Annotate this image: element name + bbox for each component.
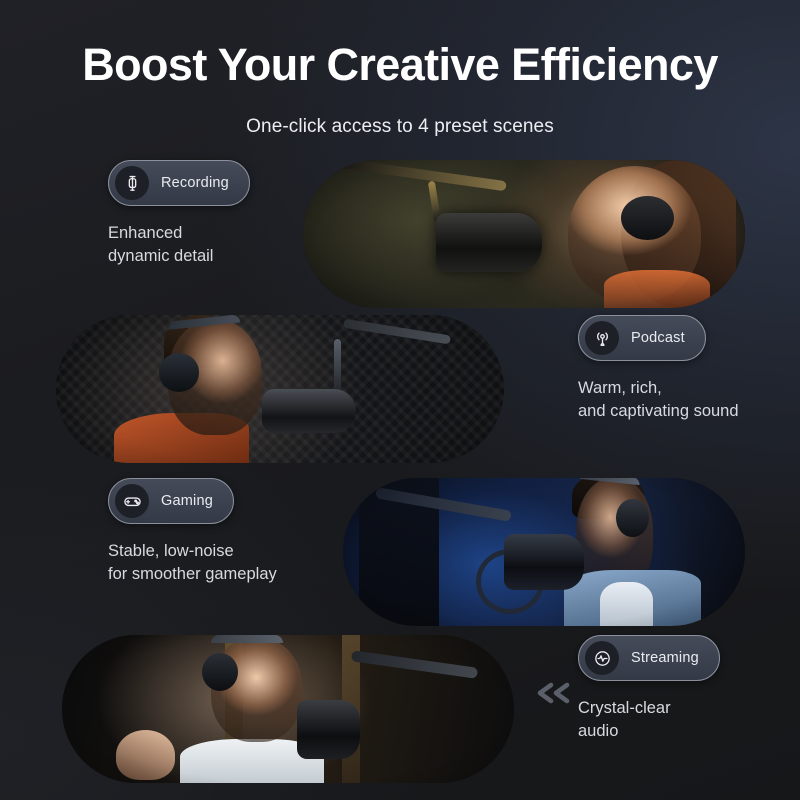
page-subtitle: One-click access to 4 preset scenes (0, 116, 800, 138)
gamepad-icon (115, 484, 149, 518)
scene-caption: Crystal-clear audio (578, 697, 720, 744)
microphone-icon (115, 166, 149, 200)
scene-info-streaming: Streaming Crystal-clear audio (578, 635, 720, 744)
podcast-broadcast-icon (585, 321, 619, 355)
scene-photo-streaming (62, 635, 514, 783)
scene-caption: Stable, low-noise for smoother gameplay (108, 540, 277, 587)
scene-photo-recording (303, 160, 745, 308)
scene-info-gaming: Gaming Stable, low-noise for smoother ga… (108, 478, 277, 587)
scene-info-recording: Recording Enhanced dynamic detail (108, 160, 250, 269)
scene-photo-podcast (56, 315, 504, 463)
page-title: Boost Your Creative Efficiency (0, 41, 800, 88)
preset-pill-label: Gaming (161, 493, 213, 509)
preset-pill-recording[interactable]: Recording (108, 160, 250, 206)
preset-pill-label: Streaming (631, 650, 699, 666)
scene-photo-gaming (343, 478, 745, 626)
scene-row-recording: Recording Enhanced dynamic detail (0, 160, 800, 308)
scene-row-gaming: Gaming Stable, low-noise for smoother ga… (0, 478, 800, 626)
preset-pill-podcast[interactable]: Podcast (578, 315, 706, 361)
scene-caption: Warm, rich, and captivating sound (578, 377, 739, 424)
preset-pill-streaming[interactable]: Streaming (578, 635, 720, 681)
scene-row-podcast: Podcast Warm, rich, and captivating soun… (0, 315, 800, 463)
preset-pill-label: Recording (161, 175, 229, 191)
scene-info-podcast: Podcast Warm, rich, and captivating soun… (578, 315, 739, 424)
preset-pill-label: Podcast (631, 330, 685, 346)
scene-caption: Enhanced dynamic detail (108, 222, 250, 269)
preset-pill-gaming[interactable]: Gaming (108, 478, 234, 524)
promo-graphic: Boost Your Creative Efficiency One-click… (0, 0, 800, 800)
waveform-circle-icon (585, 641, 619, 675)
scene-row-streaming: Streaming Crystal-clear audio (0, 635, 800, 783)
